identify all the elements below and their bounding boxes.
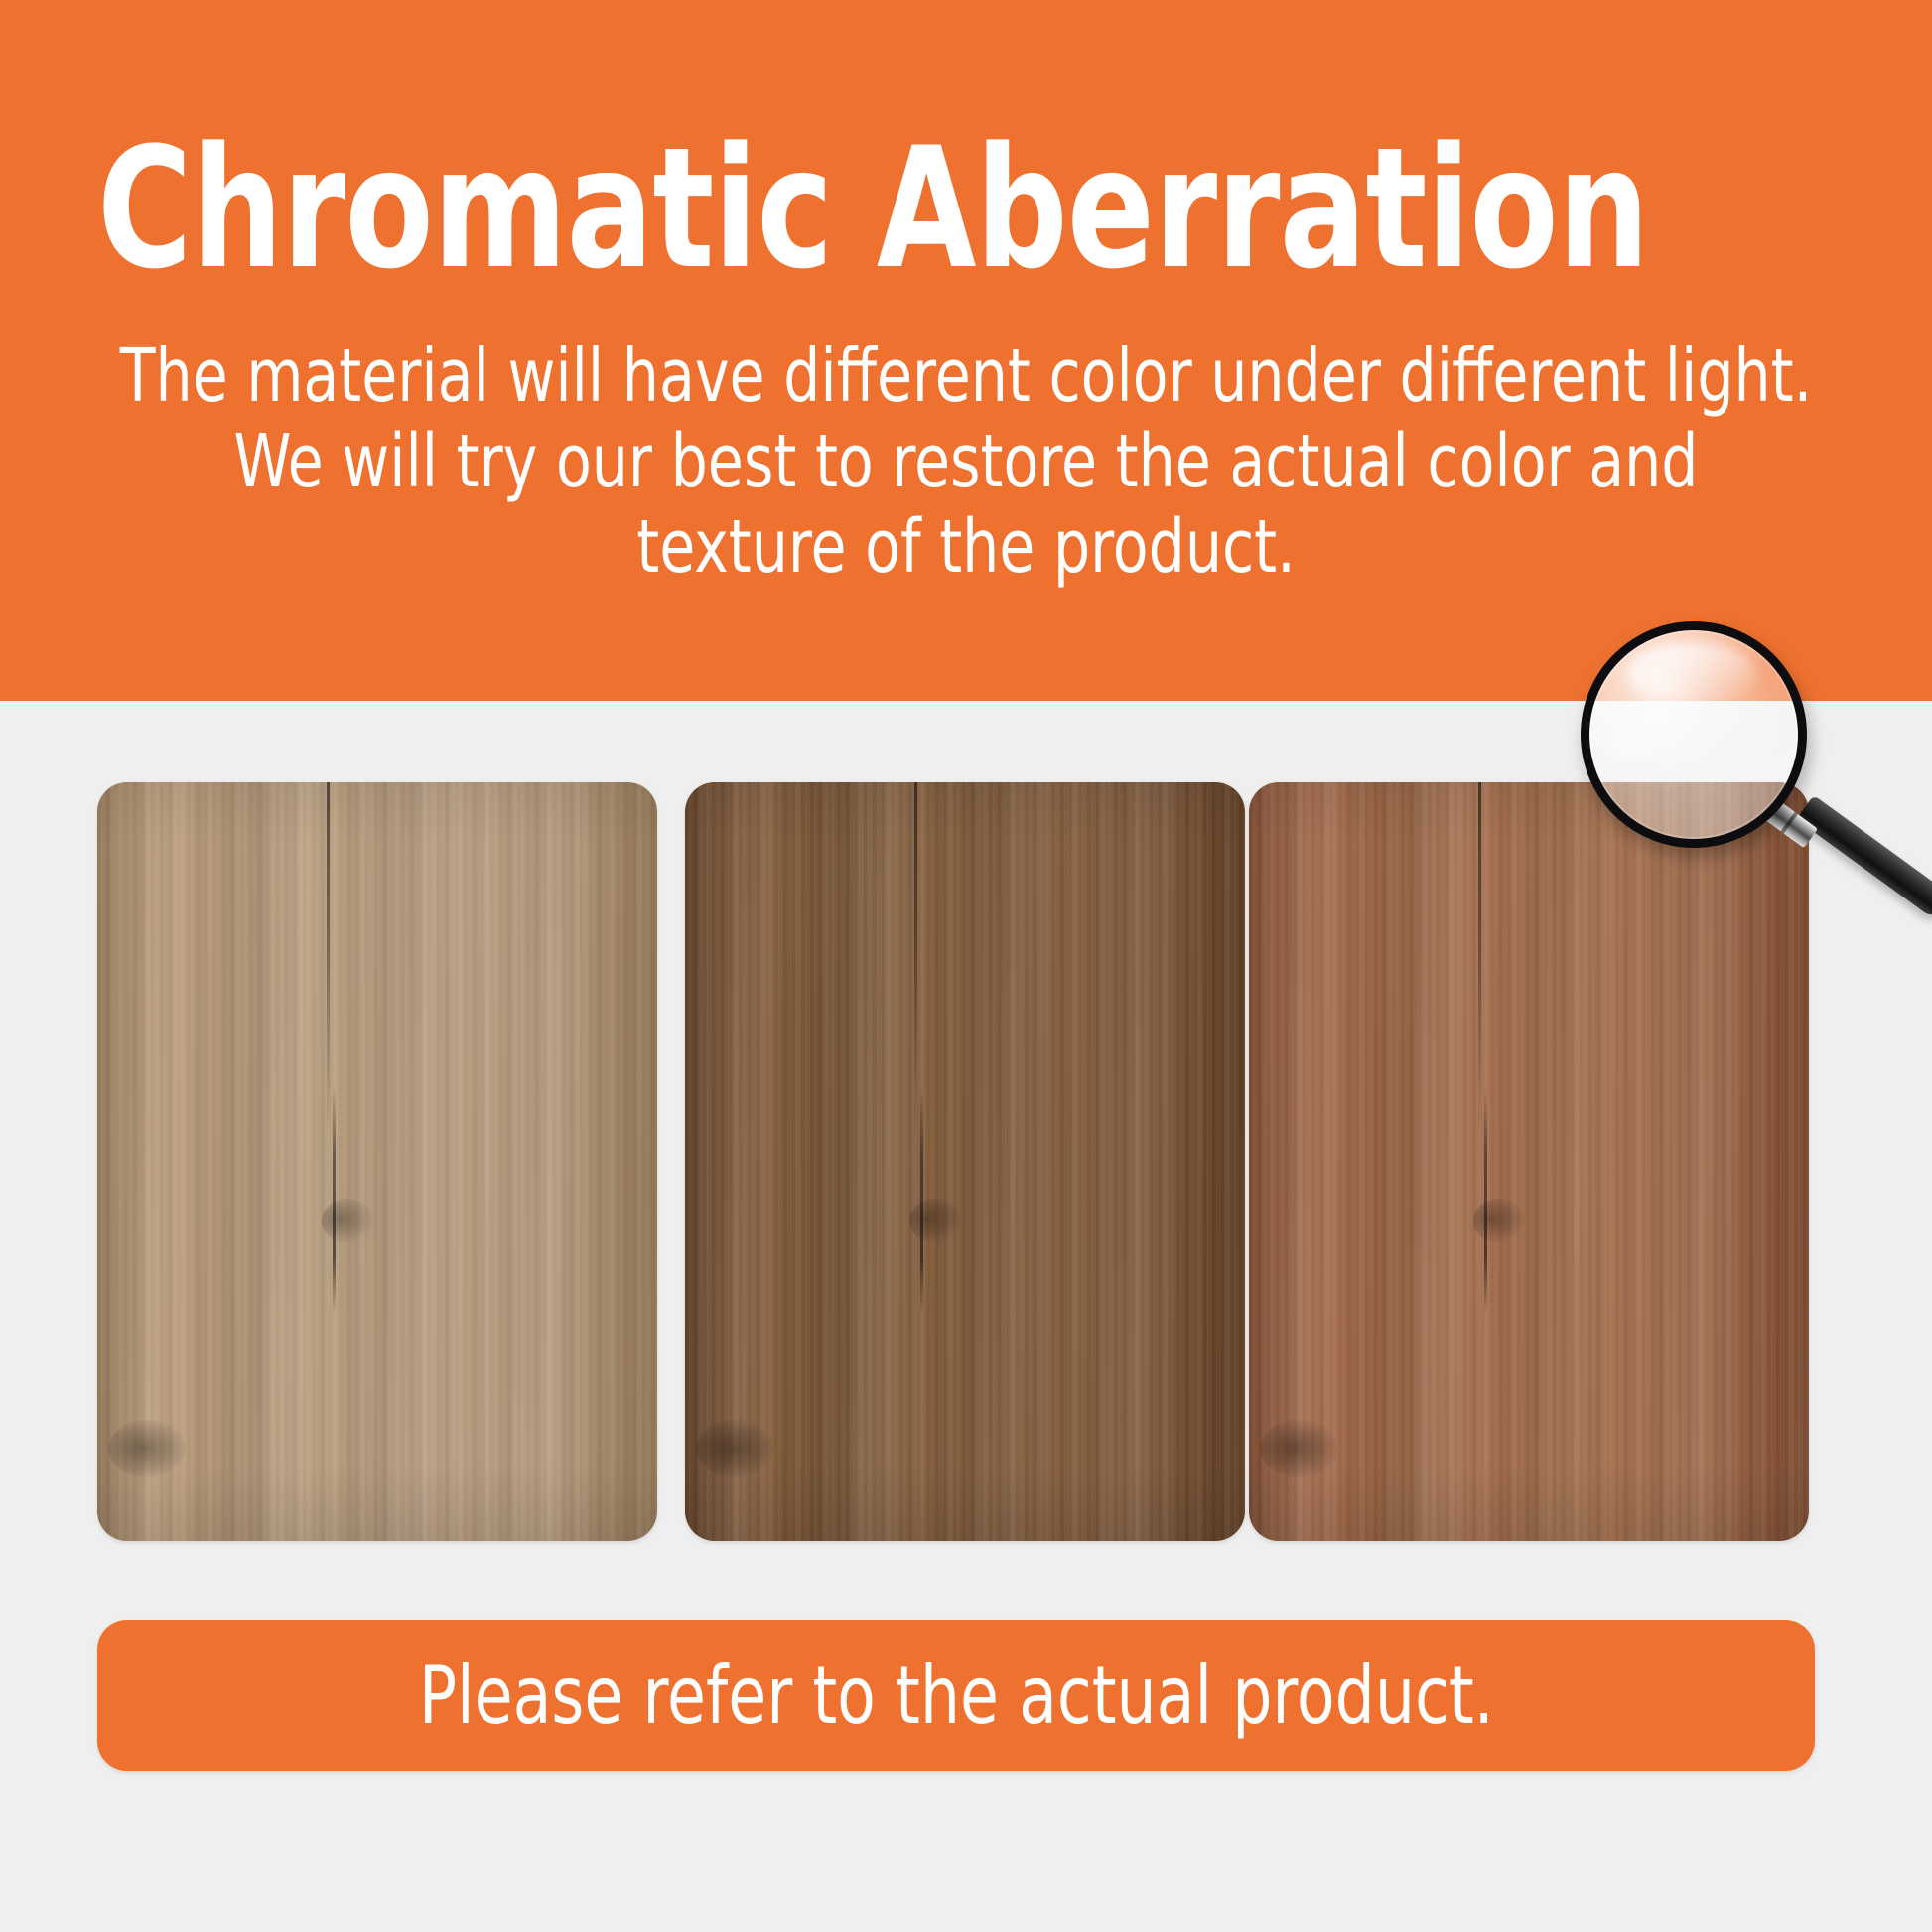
warm-chestnut-swatch[interactable] — [1249, 782, 1809, 1541]
footer-banner[interactable]: Please refer to the actual product. — [97, 1620, 1815, 1771]
footer-banner-label: Please refer to the actual product. — [419, 1656, 1494, 1735]
magnifier-glare-secondary — [1607, 705, 1701, 763]
header-band: Chromatic Aberration The material will h… — [0, 0, 1932, 701]
wood-shading — [685, 782, 1245, 1541]
dark-walnut-swatch[interactable] — [685, 782, 1245, 1541]
subtitle-block: The material will have different color u… — [0, 334, 1932, 590]
subtitle-line-1: The material will have different color u… — [116, 334, 1816, 419]
wood-shading — [97, 782, 657, 1541]
wood-shading — [1249, 782, 1809, 1541]
subtitle-line-3: texture of the product. — [116, 504, 1816, 590]
chromatic-aberration-infographic: Chromatic Aberration The material will h… — [0, 0, 1932, 1932]
subtitle-line-2: We will try our best to restore the actu… — [116, 419, 1816, 504]
magnifier-handle — [1796, 795, 1932, 919]
light-oak-swatch[interactable] — [97, 782, 657, 1541]
page-title: Chromatic Aberration — [97, 125, 1600, 292]
